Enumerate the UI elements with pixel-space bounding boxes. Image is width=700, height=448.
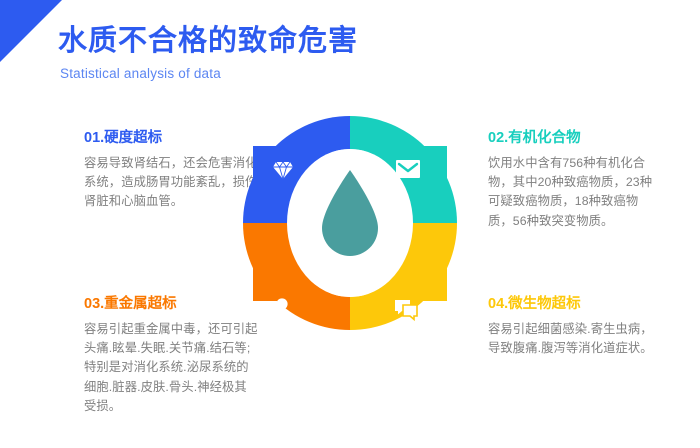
info-block-01: 01.硬度超标 容易导致肾结石，还会危害消化系统，造成肠胃功能紊乱，损伤肾脏和心…: [84, 130, 259, 212]
info-block-03: 03.重金属超标 容易引起重金属中毒，还可引起头痛.眩晕.失眠.关节痛.结石等;…: [84, 296, 259, 416]
info-block-01-title: 01.硬度超标: [84, 130, 259, 147]
info-block-02-body: 饮用水中含有756种有机化合物，其中20种致癌物质，23种可疑致癌物质，18种致…: [488, 154, 663, 230]
slide-header: 水质不合格的致命危害 Statistical analysis of data: [58, 24, 478, 81]
central-wheel-diagram: [243, 108, 457, 338]
page-title: 水质不合格的致命危害: [58, 24, 478, 59]
info-block-04-title: 04.微生物超标: [488, 296, 663, 313]
envelope-icon: [395, 158, 421, 180]
info-block-03-title: 03.重金属超标: [84, 296, 259, 313]
info-block-01-body: 容易导致肾结石，还会危害消化系统，造成肠胃功能紊乱，损伤肾脏和心脑血管。: [84, 154, 259, 211]
gem-icon: [271, 158, 295, 182]
chat-icon: [393, 298, 419, 322]
info-block-04: 04.微生物超标 容易引起细菌感染.寄生虫病，导致腹痛.腹泻等消化道症状。: [488, 296, 663, 358]
page-subtitle: Statistical analysis of data: [60, 66, 478, 81]
slide-canvas: 水质不合格的致命危害 Statistical analysis of data …: [0, 0, 700, 448]
info-block-04-body: 容易引起细菌感染.寄生虫病，导致腹痛.腹泻等消化道症状。: [488, 320, 663, 358]
user-icon: [271, 297, 293, 321]
info-block-02: 02.有机化合物 饮用水中含有756种有机化合物，其中20种致癌物质，23种可疑…: [488, 130, 663, 231]
info-block-03-body: 容易引起重金属中毒，还可引起头痛.眩晕.失眠.关节痛.结石等;特别是对消化系统.…: [84, 320, 259, 415]
info-block-02-title: 02.有机化合物: [488, 130, 663, 147]
corner-wedge-decoration: [0, 0, 62, 62]
